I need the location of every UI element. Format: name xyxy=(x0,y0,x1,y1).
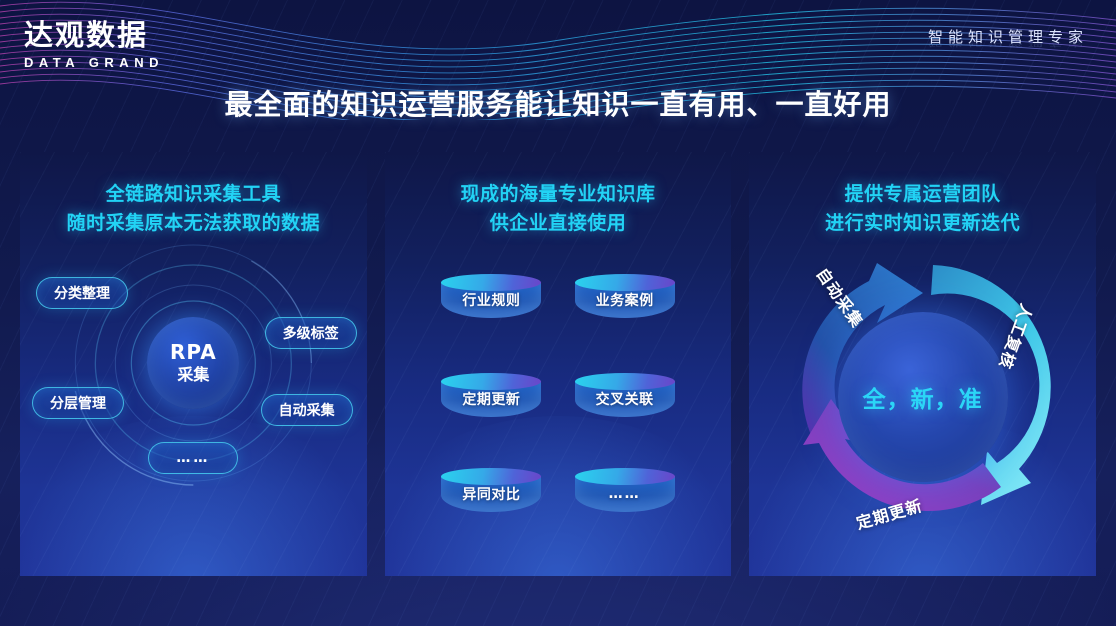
panel-3-heading-line2: 进行实时知识更新迭代 xyxy=(749,209,1096,238)
cylinder-regular-update[interactable]: 定期更新 xyxy=(441,373,541,423)
cylinder-business-cases[interactable]: 业务案例 xyxy=(575,274,675,324)
cylinder-label: 行业规则 xyxy=(441,286,541,314)
tagline-reflection: 智能知识管理专家 xyxy=(928,37,1088,49)
pill-auto-collect[interactable]: 自动采集 xyxy=(261,394,353,426)
cylinder-difference-compare[interactable]: 异同对比 xyxy=(441,468,541,518)
panel-1-heading: 全链路知识采集工具 随时采集原本无法获取的数据 xyxy=(20,152,367,239)
cylinder-industry-rules[interactable]: 行业规则 xyxy=(441,274,541,324)
pill-more[interactable]: …… xyxy=(148,442,238,474)
cylinder-label: 定期更新 xyxy=(441,385,541,413)
rpa-ring-diagram: RPA 采集 分类整理 多级标签 分层管理 自动采集 …… xyxy=(20,239,367,569)
cycle-core-node: 全，新，准 xyxy=(838,312,1008,482)
cylinder-label: 业务案例 xyxy=(575,286,675,314)
panel-1-heading-line2: 随时采集原本无法获取的数据 xyxy=(20,209,367,238)
rpa-core-line2: 采集 xyxy=(177,365,209,385)
pill-multilevel-tag[interactable]: 多级标签 xyxy=(265,317,357,349)
cylinder-label: …… xyxy=(575,480,675,508)
cylinder-label: 异同对比 xyxy=(441,480,541,508)
brand-logo: 达观数据 DATA GRAND xyxy=(24,20,164,70)
panel-3-body: 全，新，准 自动采集 人工复核 定期更新 xyxy=(749,239,1096,569)
panel-2-heading-line2: 供企业直接使用 xyxy=(385,209,732,238)
panel-1-heading-line1: 全链路知识采集工具 xyxy=(20,180,367,209)
panel-2-heading: 现成的海量专业知识库 供企业直接使用 xyxy=(385,152,732,239)
slide-root: 达观数据 DATA GRAND 智能知识管理专家 智能知识管理专家 最全面的知识… xyxy=(0,0,1116,626)
logo-chinese-name: 达观数据 xyxy=(24,20,164,50)
cycle-diagram: 全，新，准 自动采集 人工复核 定期更新 xyxy=(773,247,1073,547)
panel-knowledge-collection: 全链路知识采集工具 随时采集原本无法获取的数据 xyxy=(20,152,367,576)
rpa-core-node: RPA 采集 xyxy=(147,317,239,409)
panel-knowledge-base: 现成的海量专业知识库 供企业直接使用 行业规则 业务案例 xyxy=(385,152,732,576)
panel-container: 全链路知识采集工具 随时采集原本无法获取的数据 xyxy=(20,152,1096,576)
pill-classification[interactable]: 分类整理 xyxy=(36,277,128,309)
cylinder-cross-reference[interactable]: 交叉关联 xyxy=(575,373,675,423)
panel-3-heading-line1: 提供专属运营团队 xyxy=(749,180,1096,209)
panel-2-heading-line1: 现成的海量专业知识库 xyxy=(385,180,732,209)
tagline-block: 智能知识管理专家 智能知识管理专家 xyxy=(928,26,1088,70)
cycle-core-text: 全，新，准 xyxy=(863,380,983,414)
pill-layer-management[interactable]: 分层管理 xyxy=(32,387,124,419)
panel-3-heading: 提供专属运营团队 进行实时知识更新迭代 xyxy=(749,152,1096,239)
database-cylinder-grid: 行业规则 业务案例 定期更新 交叉 xyxy=(385,239,732,569)
logo-english-name: DATA GRAND xyxy=(24,55,164,70)
panel-2-body: 行业规则 业务案例 定期更新 交叉 xyxy=(385,239,732,569)
cylinder-label: 交叉关联 xyxy=(575,385,675,413)
page-title: 最全面的知识运营服务能让知识一直有用、一直好用 xyxy=(0,83,1116,123)
panel-operations-team: 提供专属运营团队 进行实时知识更新迭代 xyxy=(749,152,1096,576)
rpa-core-line1: RPA xyxy=(170,340,217,365)
panel-1-body: RPA 采集 分类整理 多级标签 分层管理 自动采集 …… xyxy=(20,239,367,569)
cylinder-more[interactable]: …… xyxy=(575,468,675,518)
